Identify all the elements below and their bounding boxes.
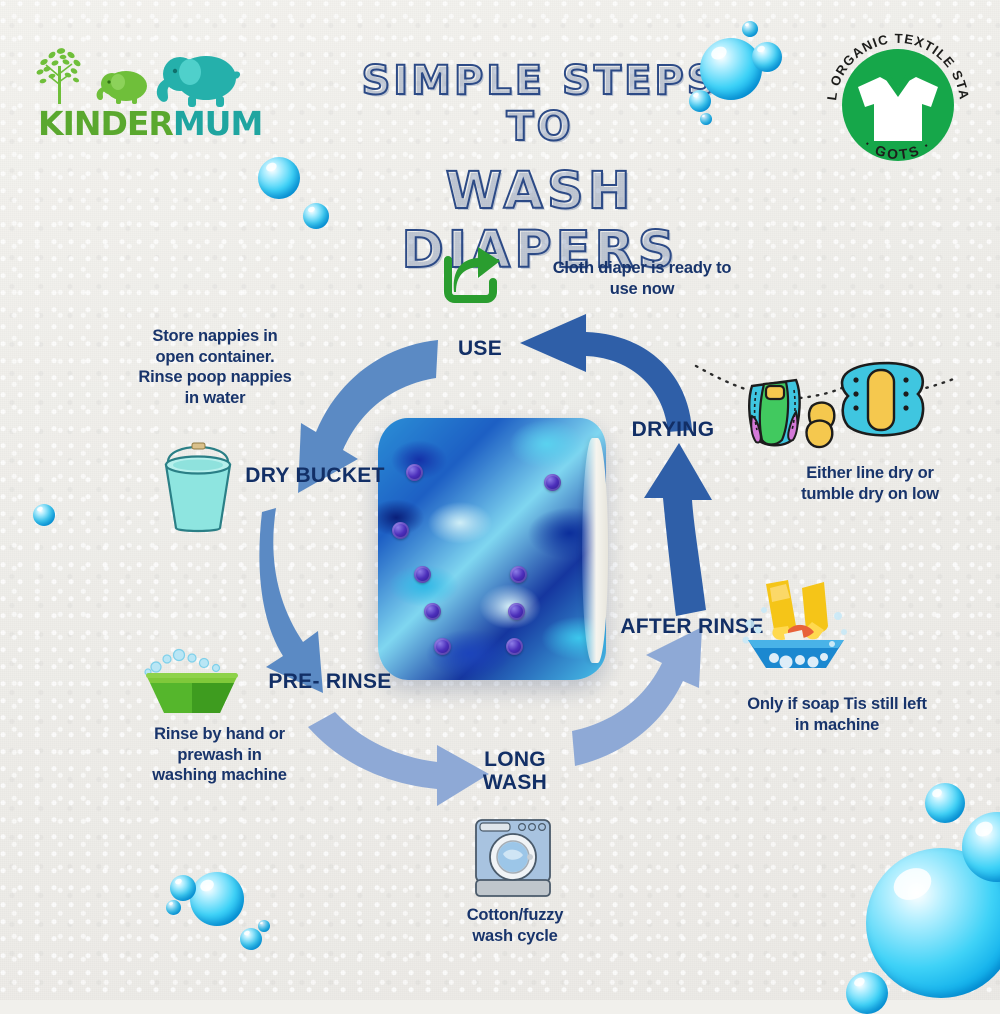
step-drying-icon-wrap [690, 356, 960, 466]
step-long-wash-icon-wrap [470, 812, 556, 902]
step-use-description: Cloth diaper is ready to use now [522, 258, 762, 299]
bubble-bottom-right-medium [925, 783, 965, 823]
bubble-top-right-large [700, 38, 762, 100]
diaper-snap [508, 603, 525, 620]
diaper-snap [544, 474, 561, 491]
diaper-a [749, 380, 799, 445]
bubble-top-right-medium [752, 42, 782, 72]
bubble-title-left-small [303, 203, 329, 229]
infographic-canvas: KINDERMUM SIMPLE STEPS TO WASH DIAPERS G… [0, 0, 1000, 1000]
step-use [440, 246, 510, 306]
step-long-wash-label: LONG WASH [455, 748, 575, 794]
diaper-snap [406, 464, 423, 481]
bubble-bottom-right-small [846, 972, 888, 1014]
hand-wash-gloves-icon [740, 578, 850, 670]
step-after-rinse-icon-wrap [740, 578, 850, 670]
diaper-snap [434, 638, 451, 655]
wash-basin-icon [140, 645, 250, 717]
diaper-snap [392, 522, 409, 539]
bubble-top-right-small [742, 21, 758, 37]
bubble-bottom-left-tiny [240, 928, 262, 950]
bubble-title-left-large [258, 157, 300, 199]
diaper-snap [510, 566, 527, 583]
diaper-snap [424, 603, 441, 620]
step-pre-rinse-label: PRE- RINSE [240, 670, 420, 693]
diaper-snap [414, 566, 431, 583]
diaper-snap [506, 638, 523, 655]
diaper-b [842, 363, 923, 435]
step-dry-bucket-description: Store nappies in open container. Rinse p… [110, 326, 320, 409]
step-after-rinse-description: Only if soap Tis still left in machine [722, 694, 952, 735]
step-pre-rinse-icon-wrap [140, 645, 250, 717]
bubble-bottom-left-large [190, 872, 244, 926]
diaper-inserts [807, 403, 835, 447]
bubble-bottom-left-micro [258, 920, 270, 932]
bubble-bottom-left-medium [170, 875, 196, 901]
step-drying-description: Either line dry or tumble dry on low [770, 463, 970, 504]
bubble-left-edge [33, 504, 55, 526]
step-dry-bucket-label: DRY BUCKET [230, 464, 400, 487]
hanging-diapers-icon [690, 356, 960, 466]
step-long-wash-description: Cotton/fuzzy wash cycle [420, 905, 610, 946]
step-pre-rinse-description: Rinse by hand or prewash in washing mach… [112, 724, 327, 786]
bubble-top-right-micro [700, 113, 712, 125]
step-use-label: USE [425, 337, 535, 360]
washing-machine-icon [470, 812, 556, 902]
bubble-top-right-tiny [689, 90, 711, 112]
cloth-diaper-product [378, 418, 606, 680]
bubble-bottom-left-small [166, 900, 181, 915]
share-arrow-icon [440, 246, 506, 304]
